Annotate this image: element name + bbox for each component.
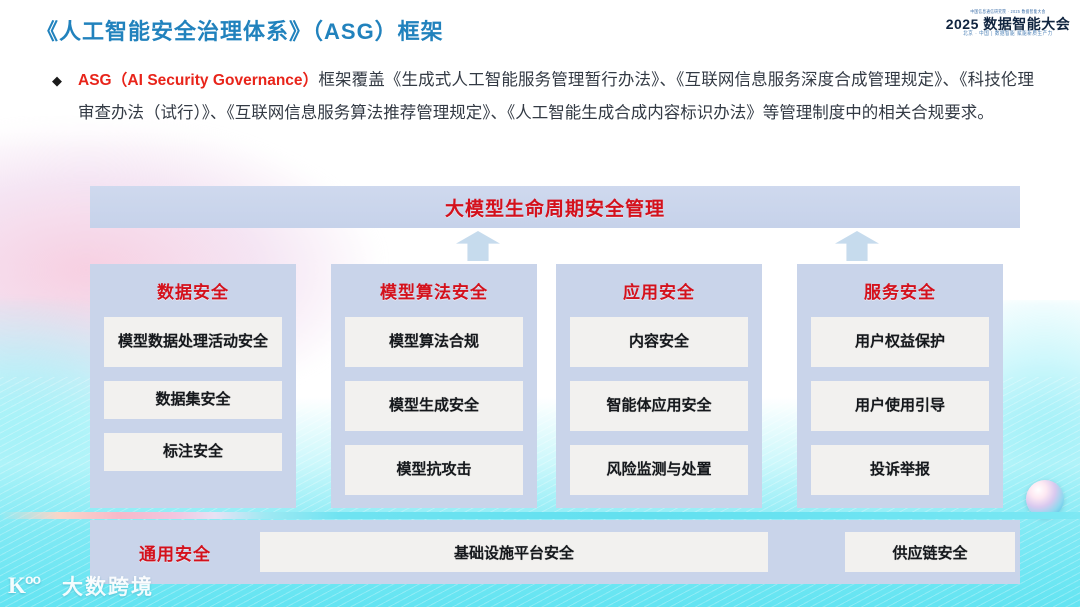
up-arrow-icon — [456, 231, 500, 261]
column-gap — [296, 264, 331, 508]
watermark-superscript: oo — [25, 572, 40, 586]
watermark-text: 大数跨境 — [62, 571, 154, 601]
pillar-column-application-security: 应用安全 内容安全 智能体应用安全 风险监测与处置 — [556, 264, 762, 508]
conference-logo: 中国信息通信研究院 · 2025 数据智能大会 2025 数据智能大会 北京 ·… — [944, 4, 1072, 44]
pillar-columns: 数据安全 模型数据处理活动安全 数据集安全 标注安全 模型算法安全 模型算法合规… — [90, 264, 1020, 508]
general-security-label: 通用安全 — [90, 540, 260, 565]
pillar-item: 用户使用引导 — [811, 381, 989, 431]
asg-highlight: ASG（AI Security Governance） — [78, 72, 318, 89]
pillar-item: 模型生成安全 — [345, 381, 523, 431]
conference-logo-title: 2025 数据智能大会 — [946, 17, 1071, 31]
pillar-column-model-algorithm-security: 模型算法安全 模型算法合规 模型生成安全 模型抗攻击 — [331, 264, 537, 508]
bullet-diamond-icon: ◆ — [52, 64, 78, 129]
lifecycle-band-label: 大模型生命周期安全管理 — [445, 194, 665, 221]
column-gap — [537, 264, 556, 508]
conference-logo-supertext: 中国信息通信研究院 · 2025 数据智能大会 — [970, 11, 1045, 16]
pillar-item: 数据集安全 — [104, 381, 282, 419]
general-security-item: 供应链安全 — [845, 532, 1015, 572]
up-arrow-icon — [835, 231, 879, 261]
pillar-item: 模型数据处理活动安全 — [104, 317, 282, 367]
watermark-letter: K — [8, 574, 26, 598]
pillar-item: 内容安全 — [570, 317, 748, 367]
lifecycle-band: 大模型生命周期安全管理 — [90, 186, 1020, 228]
arrow-row — [90, 228, 1020, 264]
pillar-item: 风险监测与处置 — [570, 445, 748, 495]
pillar-column-data-security: 数据安全 模型数据处理活动安全 数据集安全 标注安全 — [90, 264, 296, 508]
pillar-item: 智能体应用安全 — [570, 381, 748, 431]
page-title: 《人工智能安全治理体系》（ASG）框架 — [36, 14, 444, 46]
bullet-text: ASG（AI Security Governance）框架覆盖《生成式人工智能服… — [78, 64, 1034, 129]
pillar-item: 模型算法合规 — [345, 317, 523, 367]
pillar-title: 服务安全 — [864, 278, 936, 303]
column-gap — [762, 264, 797, 508]
rainbow-divider — [0, 512, 1080, 519]
pillar-title: 模型算法安全 — [380, 278, 488, 303]
general-security-band: 通用安全 基础设施平台安全 供应链安全 — [90, 520, 1020, 584]
pillar-item: 模型抗攻击 — [345, 445, 523, 495]
pillar-title: 数据安全 — [157, 278, 229, 303]
watermark-mark-icon: K oo — [8, 573, 54, 599]
watermark-logo: K oo 大数跨境 — [8, 571, 154, 601]
pillar-title: 应用安全 — [623, 278, 695, 303]
pillar-item: 用户权益保护 — [811, 317, 989, 367]
pillar-item: 投诉举报 — [811, 445, 989, 495]
general-security-item: 基础设施平台安全 — [260, 532, 768, 572]
bullet-paragraph: ◆ ASG（AI Security Governance）框架覆盖《生成式人工智… — [52, 64, 1034, 129]
pillar-item: 标注安全 — [104, 433, 282, 471]
conference-logo-subtext: 北京 · 中国 | 数据智能 赋能新质生产力 — [963, 31, 1053, 37]
asg-framework-diagram: 大模型生命周期安全管理 数据安全 模型数据处理活动安全 数据集安全 标注安全 模… — [90, 186, 1020, 586]
pillar-column-service-security: 服务安全 用户权益保护 用户使用引导 投诉举报 — [797, 264, 1003, 508]
